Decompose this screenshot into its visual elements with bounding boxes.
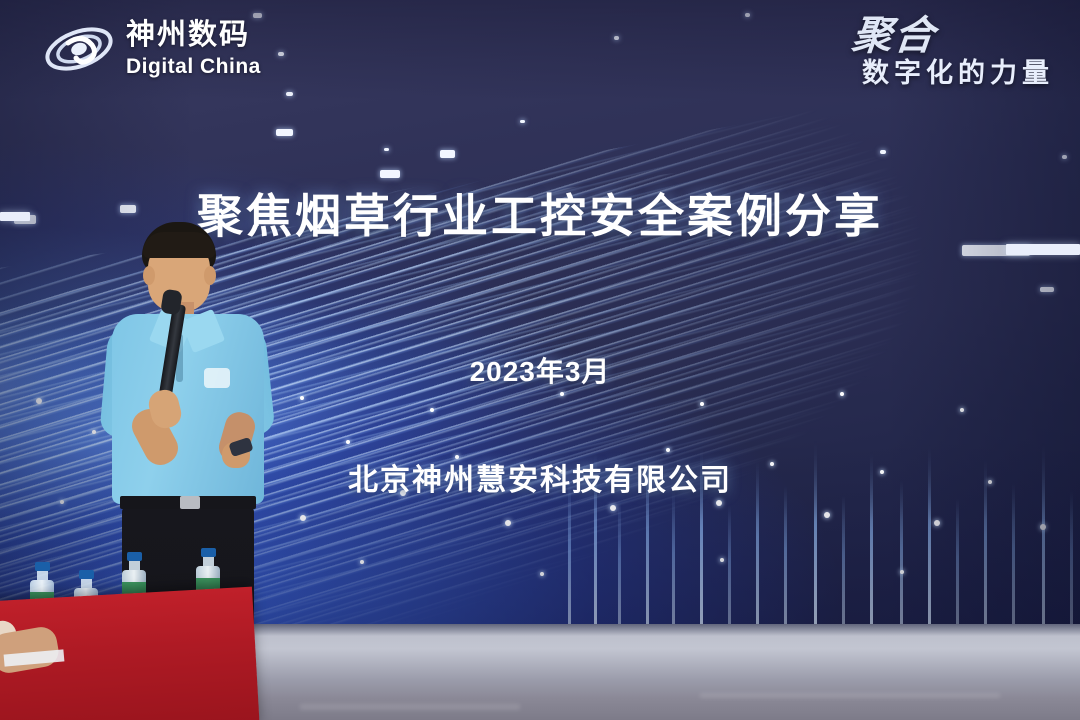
particle-dash bbox=[614, 36, 619, 40]
particle-dash bbox=[745, 13, 750, 17]
sparkle-dot bbox=[60, 500, 64, 504]
presenter-polo-shirt bbox=[112, 314, 264, 504]
sparkle-dot bbox=[505, 520, 511, 526]
particle-dash bbox=[1062, 155, 1067, 159]
sparkle-dot bbox=[716, 500, 722, 506]
bottle-neck bbox=[129, 561, 140, 570]
sparkle-dot bbox=[540, 572, 544, 576]
light-strand bbox=[728, 505, 731, 626]
sparkle-dot bbox=[666, 448, 670, 452]
particle-dash bbox=[1040, 287, 1054, 292]
sparkle-dot bbox=[610, 505, 616, 511]
particle-dash bbox=[276, 129, 293, 136]
sparkle-dot bbox=[934, 520, 940, 526]
digital-china-swirl-icon bbox=[42, 18, 116, 80]
brand-name-en: Digital China bbox=[126, 56, 261, 77]
bottle-cap bbox=[201, 548, 216, 557]
particle-dash bbox=[384, 148, 389, 151]
floor-reflection bbox=[700, 693, 1000, 698]
sparkle-dot bbox=[36, 398, 42, 404]
sparkle-dot bbox=[824, 512, 830, 518]
bottle-neck bbox=[81, 579, 92, 588]
particle-dash bbox=[286, 92, 293, 96]
sparkle-dot bbox=[430, 408, 434, 412]
particle-dash bbox=[380, 170, 400, 178]
sparkle-dot bbox=[900, 570, 904, 574]
event-logo: 聚合 数字化的力量 bbox=[852, 16, 1054, 87]
sparkle-dot bbox=[700, 402, 704, 406]
event-calligraphy: 聚合 bbox=[850, 16, 938, 56]
particle-dash bbox=[440, 150, 455, 158]
light-strand bbox=[956, 498, 959, 626]
particle-dash bbox=[520, 120, 525, 123]
brand-name-cn: 神州数码 bbox=[126, 21, 261, 50]
sparkle-dot bbox=[360, 560, 364, 564]
sparkle-dot bbox=[720, 558, 724, 562]
light-strand bbox=[784, 485, 787, 626]
light-strand bbox=[568, 480, 571, 626]
event-tagline: 数字化的力量 bbox=[852, 60, 1054, 87]
shirt-chest-logo bbox=[204, 368, 230, 388]
light-strand bbox=[1070, 490, 1073, 626]
light-strand bbox=[900, 480, 903, 626]
sparkle-dot bbox=[1040, 524, 1046, 530]
particle-dash bbox=[278, 52, 284, 56]
digital-china-logo: 神州数码 Digital China bbox=[42, 18, 261, 80]
presenter-ear-left bbox=[143, 266, 155, 285]
sparkle-dot bbox=[840, 392, 844, 396]
sparkle-dot bbox=[300, 396, 304, 400]
floor-reflection bbox=[300, 704, 520, 710]
bottle-neck bbox=[37, 571, 48, 580]
sparkle-dot bbox=[960, 408, 964, 412]
presenter-belt-buckle bbox=[180, 496, 200, 509]
sparkle-dot bbox=[346, 440, 350, 444]
presenter-ear-right bbox=[204, 266, 216, 285]
bottle-neck bbox=[203, 557, 214, 566]
sparkle-dot bbox=[300, 515, 306, 521]
light-strand bbox=[672, 490, 675, 626]
sparkle-dot bbox=[560, 392, 564, 396]
light-strand bbox=[842, 495, 845, 626]
bottle-cap bbox=[127, 552, 142, 561]
conference-photo: 神州数码 Digital China 聚合 数字化的力量 聚焦烟草行业工控安全案… bbox=[0, 0, 1080, 720]
bottle-cap bbox=[35, 562, 50, 571]
presenter-fringe bbox=[143, 232, 215, 258]
light-strand bbox=[618, 500, 621, 626]
particle-dash bbox=[880, 150, 886, 154]
bottle-cap bbox=[79, 570, 94, 579]
light-strand bbox=[1012, 482, 1015, 626]
